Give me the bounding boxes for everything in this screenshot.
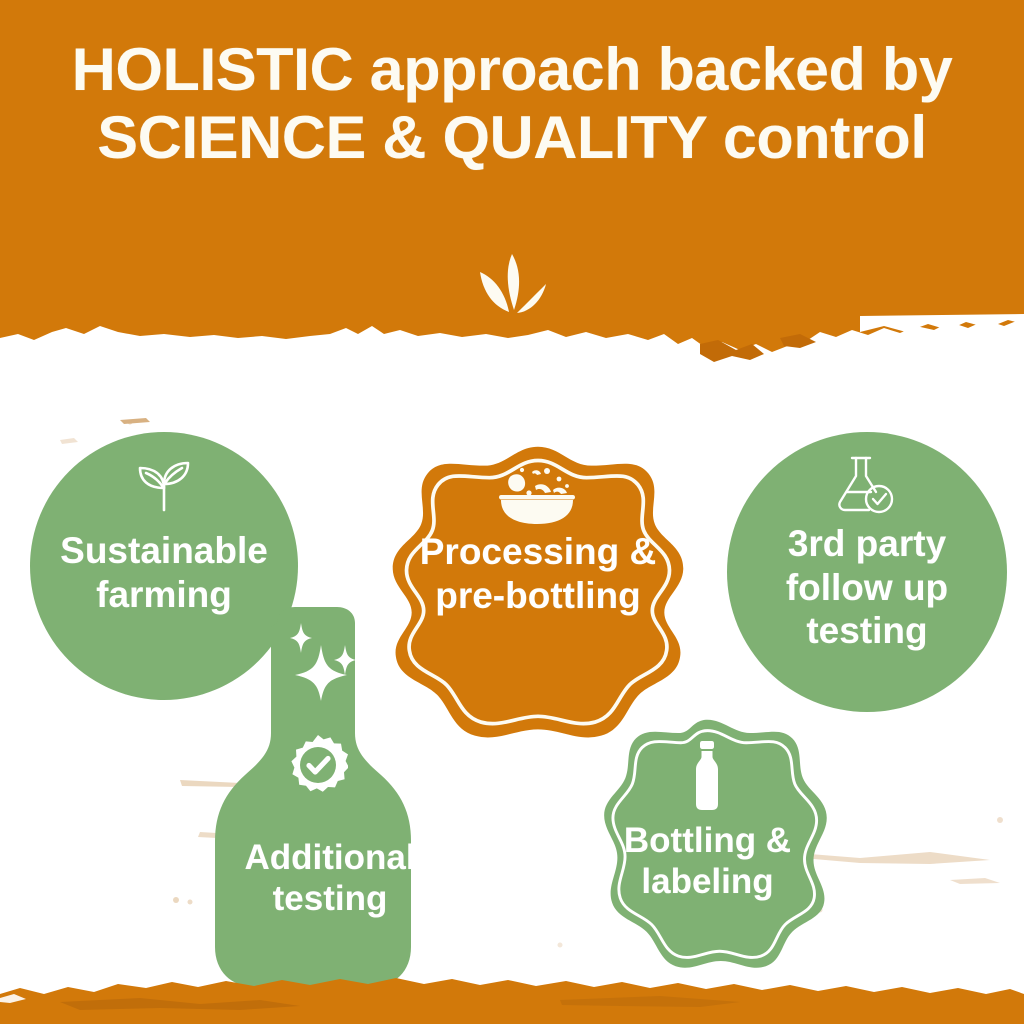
- step-bottling-labeling[interactable]: Bottling & labeling: [575, 714, 840, 980]
- step-label-bottling-labeling: Bottling & labeling: [575, 820, 840, 903]
- step-label-line-1: Additional: [215, 837, 445, 878]
- step-label-line-2: testing: [215, 878, 445, 919]
- sparkles-icon: [287, 619, 359, 701]
- step-label-line-1: Bottling &: [575, 820, 840, 861]
- sprout-icon: [134, 458, 194, 514]
- step-label-additional-testing: Additional testing: [215, 837, 445, 920]
- page-title: HOLISTIC approach backed by SCIENCE & QU…: [0, 36, 1024, 172]
- page-title-line-1: HOLISTIC approach backed by: [0, 36, 1024, 104]
- step-label-line-3: testing: [727, 609, 1007, 653]
- step-third-party-testing[interactable]: 3rd party follow up testing: [727, 432, 1007, 712]
- step-processing-pre-bottling[interactable]: Processing & pre-bottling: [378, 442, 698, 742]
- step-label-line-1: 3rd party: [727, 522, 1007, 566]
- infographic-canvas: HOLISTIC approach backed by SCIENCE & QU…: [0, 0, 1024, 1024]
- page-title-line-2: SCIENCE & QUALITY control: [0, 104, 1024, 172]
- step-label-line-2: follow up: [727, 566, 1007, 610]
- step-label-line-2: labeling: [575, 861, 840, 902]
- bottom-brush-band: [0, 954, 1024, 1024]
- flask-check-icon: [832, 454, 898, 516]
- step-label-processing-pre-bottling: Processing & pre-bottling: [378, 530, 698, 617]
- step-label-line-2: pre-bottling: [378, 574, 698, 618]
- milk-bottle-icon: [687, 740, 727, 812]
- step-label-line-1: Processing &: [378, 530, 698, 574]
- header-band: HOLISTIC approach backed by SCIENCE & QU…: [0, 0, 1024, 372]
- step-label-third-party-testing: 3rd party follow up testing: [727, 522, 1007, 653]
- seal-check-icon: [288, 735, 348, 795]
- bowl-with-bubbles-icon: [495, 464, 579, 526]
- step-label-line-1: Sustainable: [30, 529, 298, 573]
- step-label-sustainable-farming: Sustainable farming: [30, 529, 298, 616]
- three-leaf-emblem-icon: [462, 248, 562, 328]
